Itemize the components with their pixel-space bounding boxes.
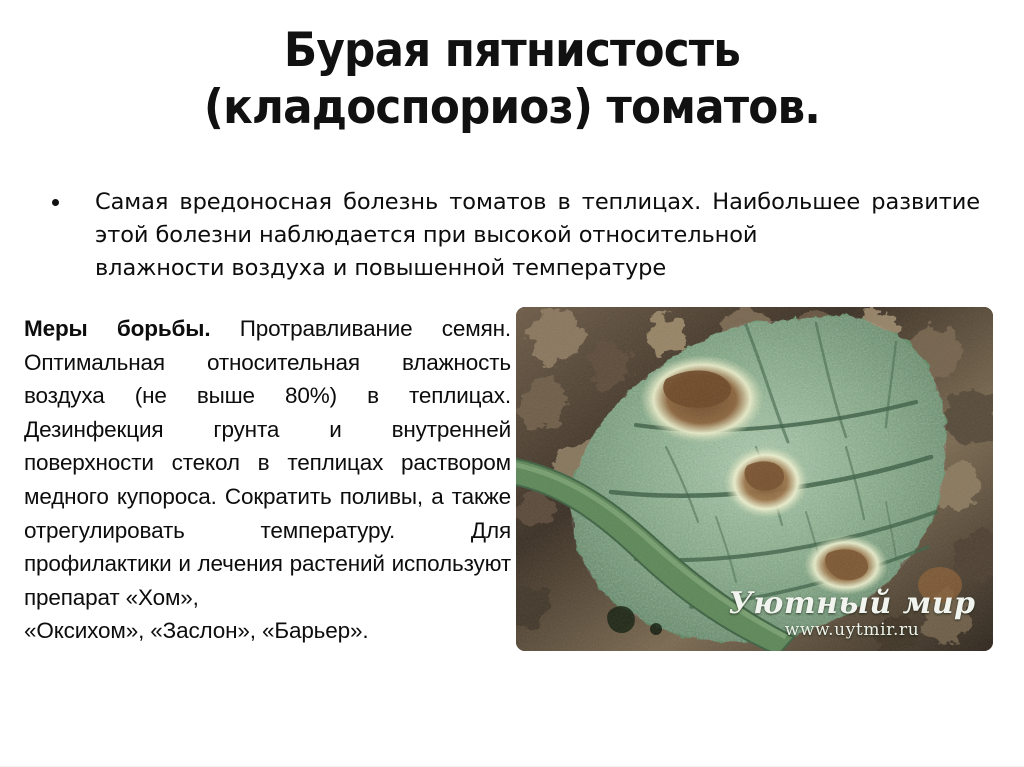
photo-grain <box>516 307 993 651</box>
bullet-paragraph-body: Самая вредоносная болезнь томатов в тепл… <box>95 189 980 248</box>
body-paragraph-lastline: «Оксихом», «Заслон», «Барьер». <box>24 614 511 648</box>
body-paragraph: Меры борьбы. Протравливание семян. Оптим… <box>24 312 511 614</box>
body-text-column: Меры борьбы. Протравливание семян. Оптим… <box>24 312 511 648</box>
slide-canvas: Бурая пятнистость (кладоспориоз) томатов… <box>0 0 1024 767</box>
title-line-2: (кладоспориоз) томатов. <box>92 79 933 136</box>
page-title: Бурая пятнистость (кладоспориоз) томатов… <box>60 22 964 136</box>
body-heading: Меры борьбы. <box>24 316 210 341</box>
disease-photo: Уютный мир www.uytmir.ru <box>516 307 993 651</box>
body-paragraph-text: Протравливание семян. Оптимальная относи… <box>24 316 511 610</box>
photo-illustration <box>516 307 993 651</box>
bullet-list-item: Самая вредоносная болезнь томатов в тепл… <box>52 186 980 285</box>
title-line-1: Бурая пятнистость <box>92 22 933 79</box>
bullet-paragraph-lastline: влажности воздуха и повышенной температу… <box>95 252 980 285</box>
bullet-dot-icon <box>52 199 59 206</box>
bullet-paragraph: Самая вредоносная болезнь томатов в тепл… <box>95 186 980 285</box>
